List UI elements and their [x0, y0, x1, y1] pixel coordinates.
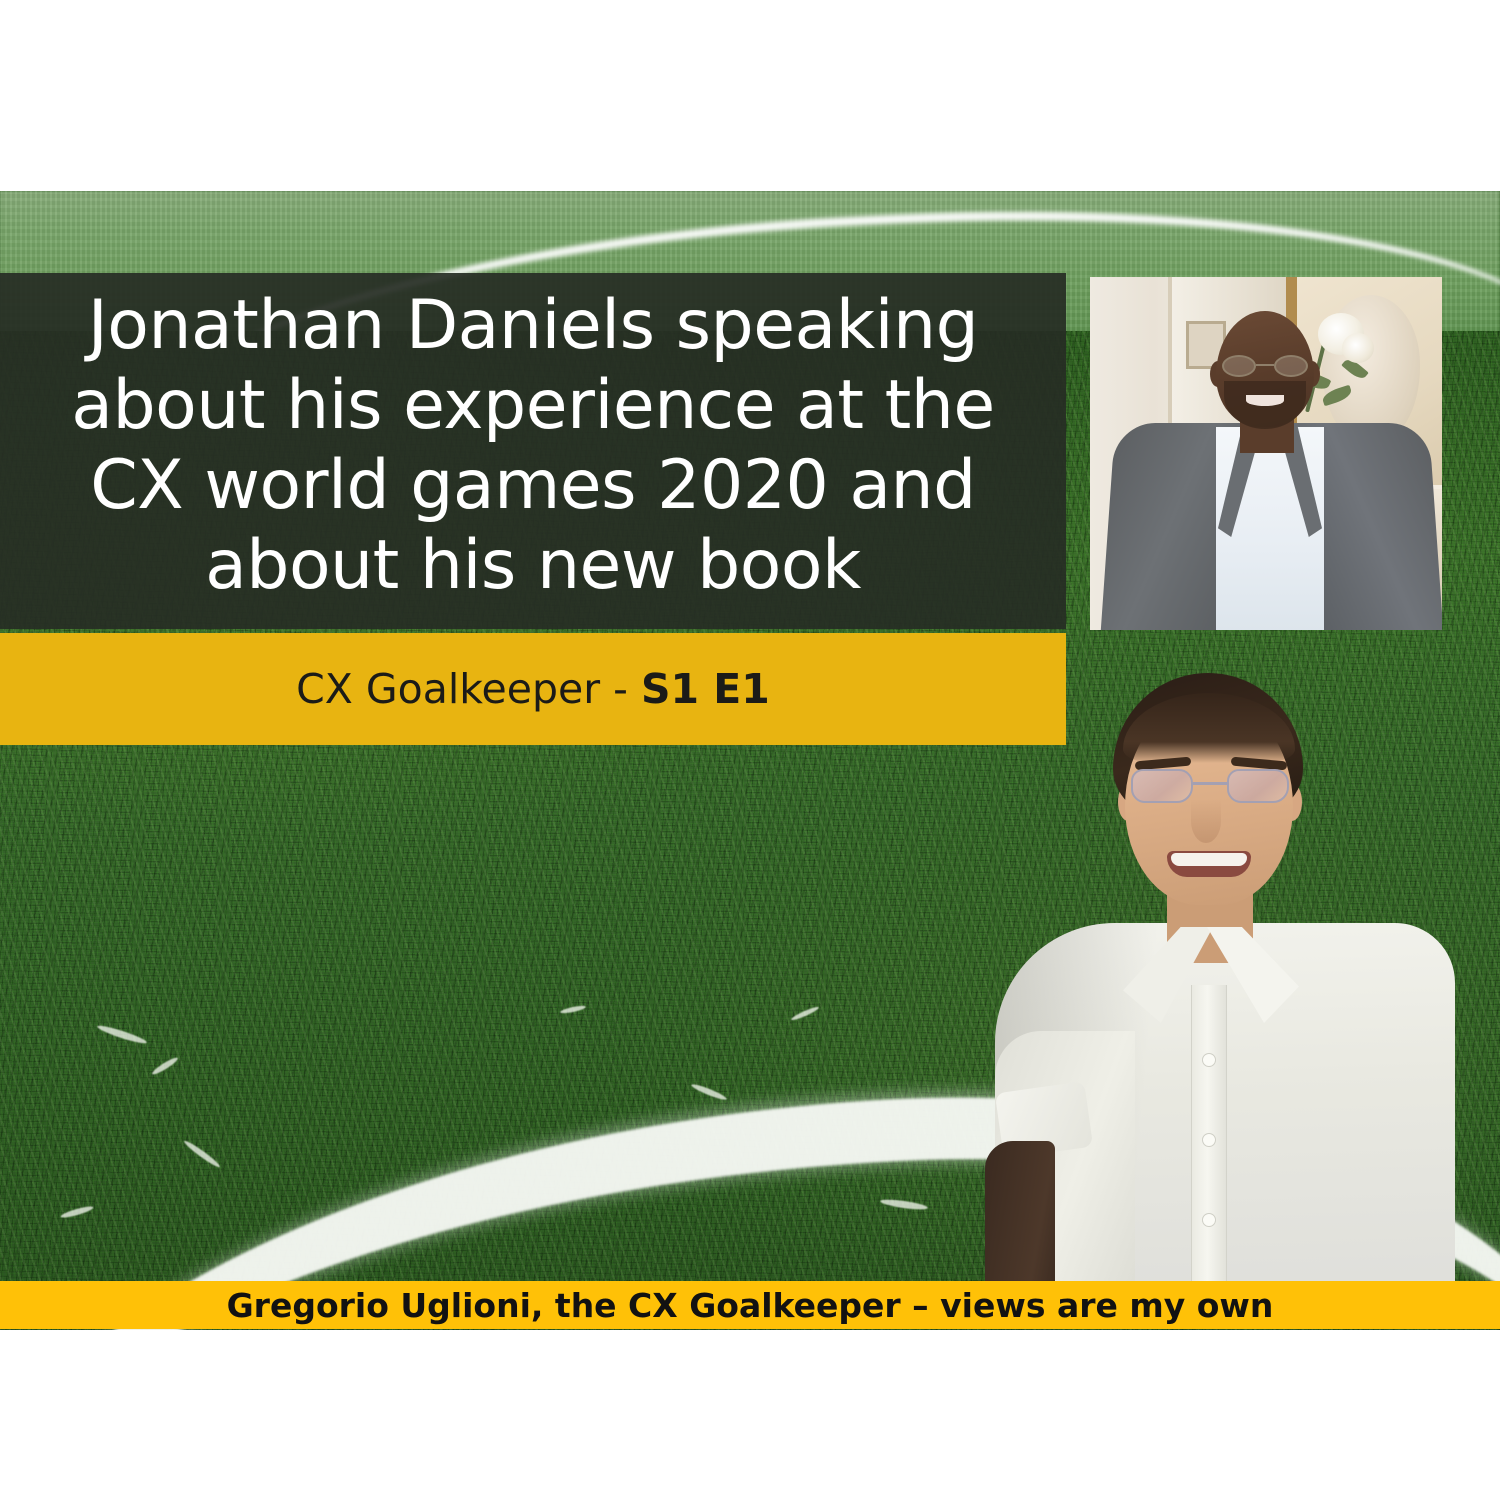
show-name-label: CX Goalkeeper -	[296, 665, 641, 713]
footer-bar: Gregorio Uglioni, the CX Goalkeeper – vi…	[0, 1281, 1500, 1329]
host-glasses-bridge	[1193, 782, 1227, 785]
episode-label: S1 E1	[641, 665, 770, 713]
host-shirt-button	[1202, 1213, 1216, 1227]
host-lens-right	[1227, 769, 1289, 803]
footer-text: Gregorio Uglioni, the CX Goalkeeper – vi…	[227, 1286, 1274, 1325]
guest-photo-flower	[1342, 333, 1374, 363]
host-shirt-placket	[1191, 985, 1227, 1313]
podcast-cover-slide: Jonathan Daniels speaking about his expe…	[0, 0, 1500, 1500]
guest-smile	[1246, 395, 1284, 406]
host-lens-left	[1131, 769, 1193, 803]
host-smile	[1167, 851, 1251, 877]
subtitle-text: CX Goalkeeper - S1 E1	[296, 665, 770, 713]
guest-lens-left	[1222, 355, 1256, 377]
host-nose	[1191, 799, 1221, 843]
guest-glasses-icon	[1222, 355, 1308, 377]
host-teeth	[1171, 853, 1247, 866]
subtitle-bar: CX Goalkeeper - S1 E1	[0, 633, 1066, 745]
page-title: Jonathan Daniels speaking about his expe…	[71, 286, 994, 607]
title-panel: Jonathan Daniels speaking about his expe…	[0, 273, 1066, 629]
host-photo	[985, 655, 1455, 1295]
guest-photo	[1090, 277, 1442, 630]
host-glasses-icon	[1131, 769, 1289, 803]
guest-glasses-bridge	[1256, 364, 1274, 366]
host-shirt-button	[1202, 1133, 1216, 1147]
host-shirt-button	[1202, 1053, 1216, 1067]
guest-lens-right	[1274, 355, 1308, 377]
